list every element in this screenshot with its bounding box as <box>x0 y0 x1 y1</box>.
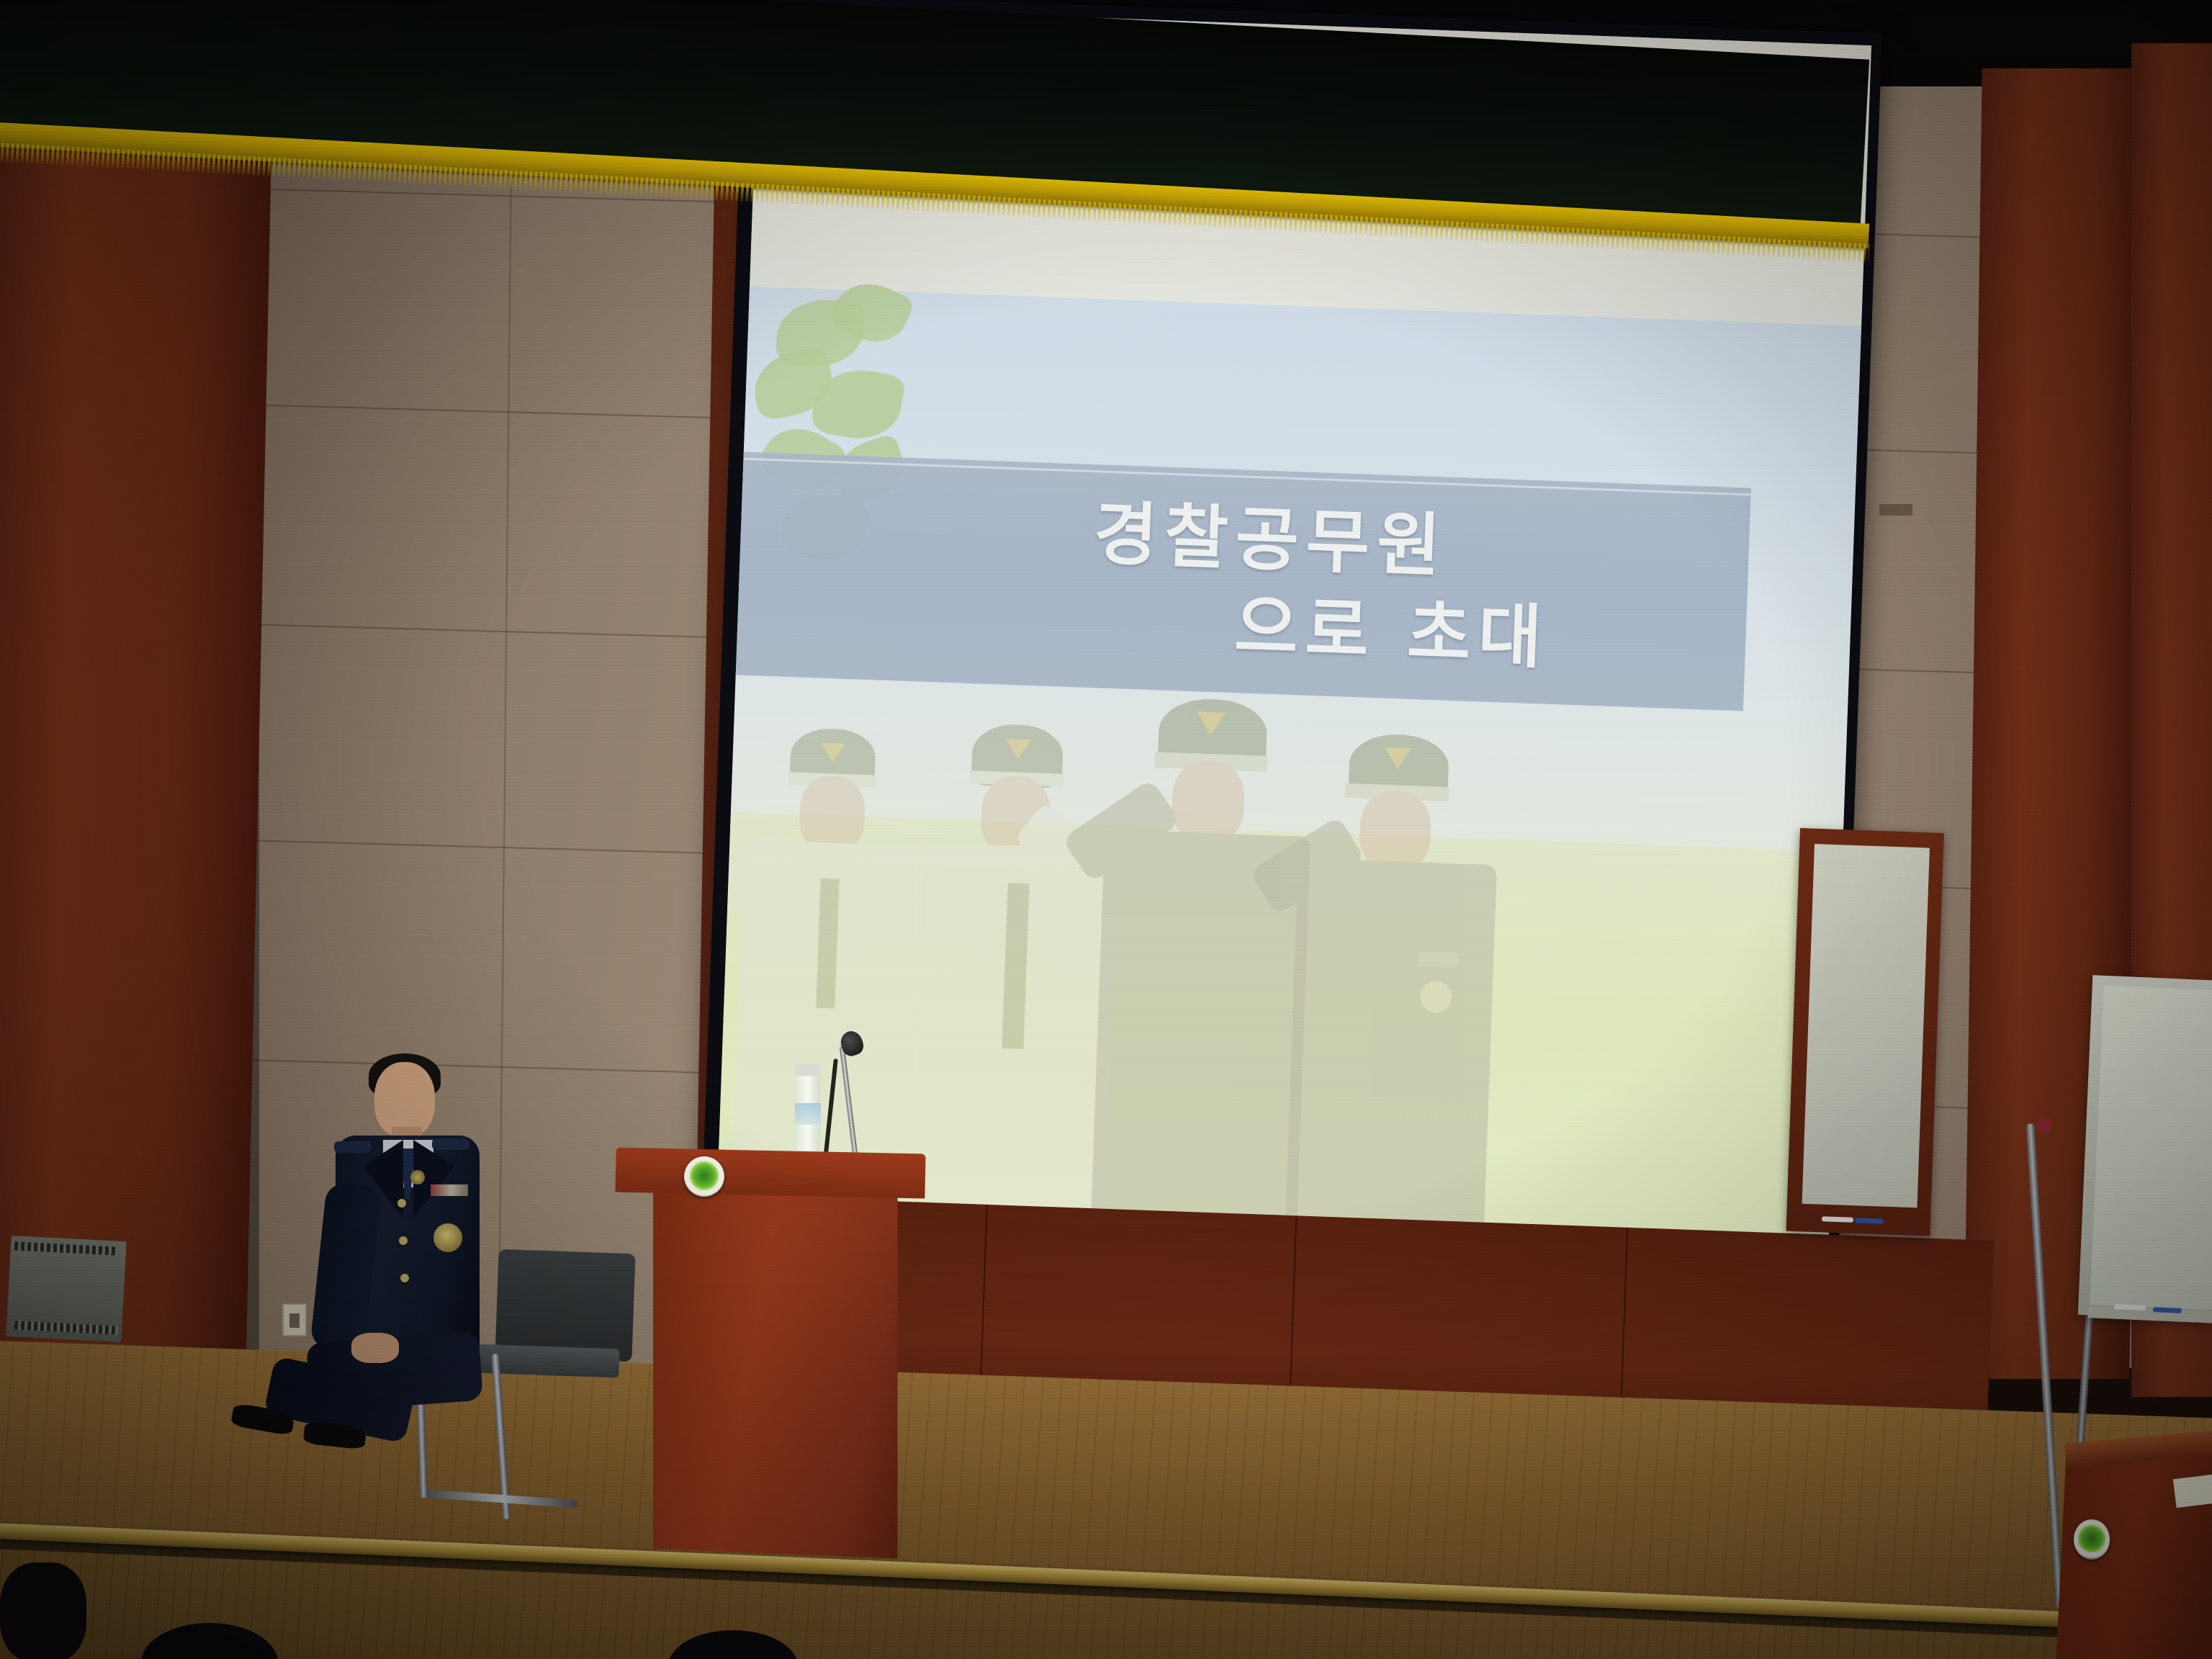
audience-head <box>0 1563 86 1659</box>
paper-sheet[interactable] <box>2173 1473 2212 1508</box>
slide-officer-3 <box>1090 696 1318 1250</box>
whiteboard-stand-surface[interactable] <box>2090 986 2212 1310</box>
wall-mark <box>1879 504 1912 516</box>
officer-shoulder-board <box>432 1138 469 1150</box>
officer-shoulder-board <box>334 1141 372 1153</box>
whiteboard-wall-surface[interactable] <box>1802 844 1930 1208</box>
officer-jacket-button <box>397 1199 406 1208</box>
whiteboard-height-knob[interactable] <box>2036 1118 2052 1132</box>
wood-column-left <box>0 86 273 1382</box>
officer-chest-badge <box>433 1223 462 1252</box>
officer-hands <box>351 1333 399 1363</box>
officer-dress-coat <box>1285 858 1497 1257</box>
lectern-emblem-icon <box>684 1156 724 1197</box>
officer-face <box>1359 790 1432 871</box>
officer-face <box>799 775 866 853</box>
officer-ribbon-bar <box>1419 952 1460 968</box>
officer-face <box>1171 760 1246 843</box>
seated-police-officer <box>282 1048 513 1451</box>
second-lectern-emblem-icon <box>2074 1519 2110 1560</box>
officer-head <box>374 1062 435 1137</box>
officer-lapel-medal <box>410 1170 425 1184</box>
water-bottle-label <box>795 1103 821 1125</box>
water-bottle-cap <box>796 1064 820 1076</box>
lectern-reading-surface[interactable] <box>615 1148 925 1199</box>
slide-officer-4 <box>1285 732 1505 1257</box>
whiteboard-marker[interactable] <box>1855 1218 1884 1223</box>
whiteboard-marker[interactable] <box>1822 1216 1853 1223</box>
officer-jacket-button <box>400 1274 409 1282</box>
officer-ribbon-bar <box>431 1184 468 1196</box>
auditorium-scene: 경찰공무원 으로 초대 <box>0 0 2212 1659</box>
officer-jacket-button <box>399 1236 408 1245</box>
slide-title-line-2: 으로 초대 <box>1233 570 1550 682</box>
